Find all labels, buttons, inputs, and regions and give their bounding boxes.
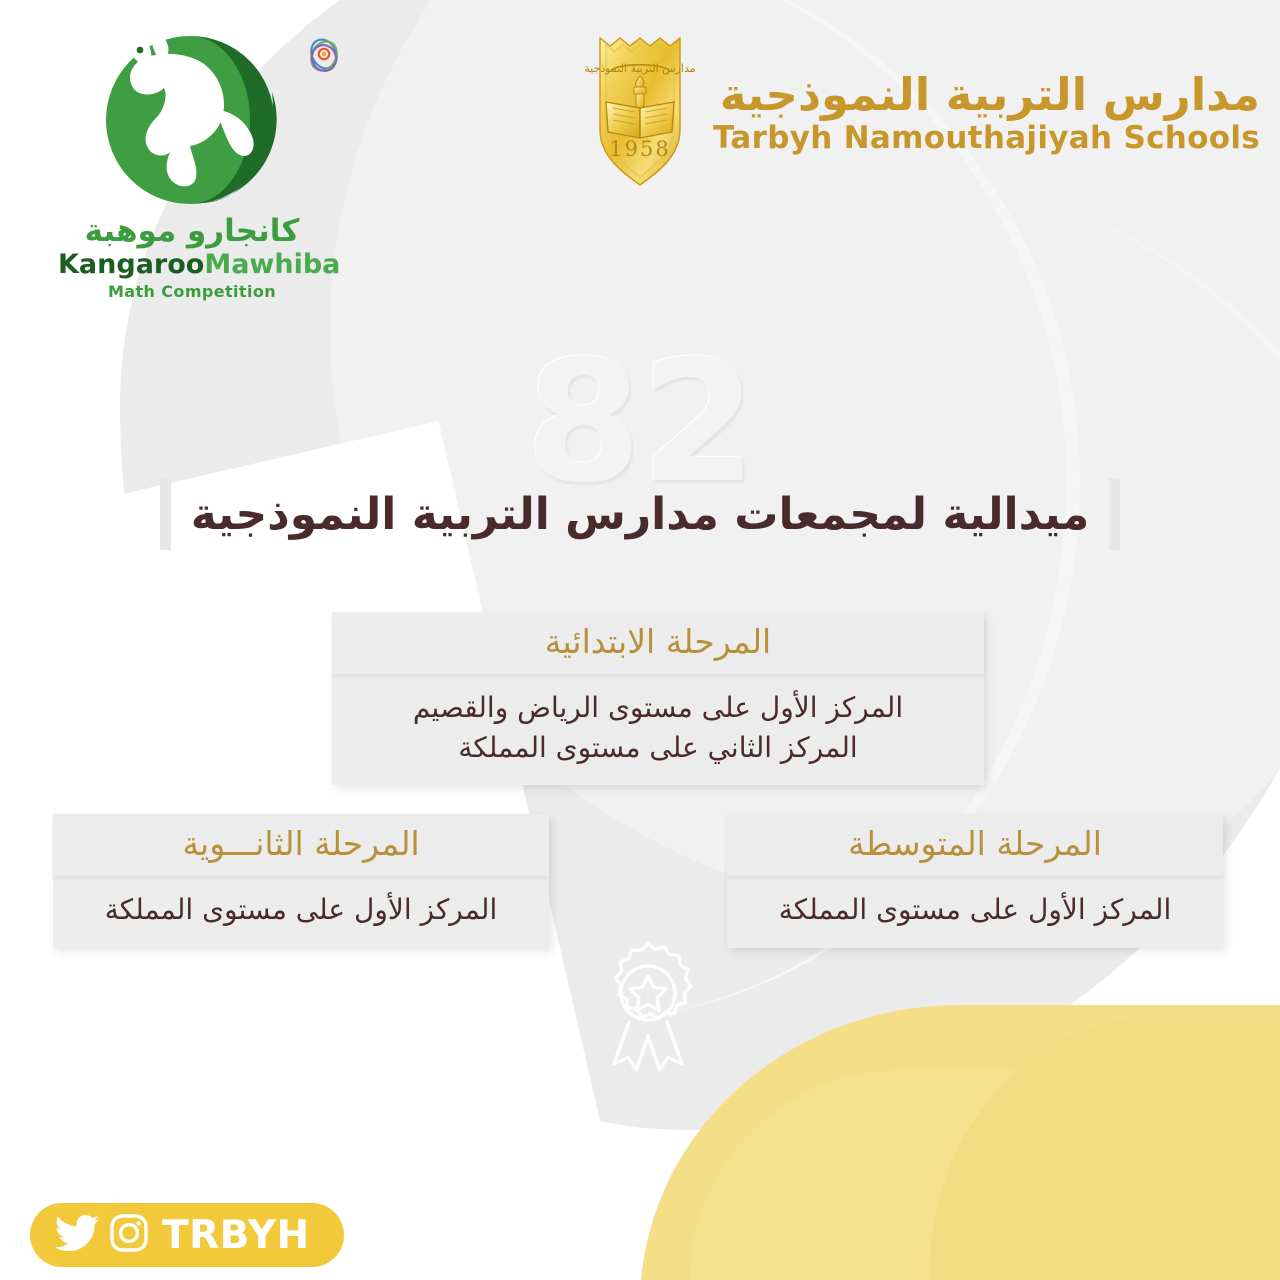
kangaroo-arabic-name: كانجارو موهبة [58, 214, 326, 248]
page-title: ميدالية لمجمعات مدارس التربية النموذجية [191, 489, 1089, 540]
svg-text:1958: 1958 [609, 137, 670, 161]
award-ribbon-icon [588, 938, 708, 1078]
svg-text:مدارس التربية النموذجية: مدارس التربية النموذجية [584, 62, 695, 75]
card-header-primary: المرحلة الابتدائية [332, 612, 984, 675]
achievement-card-middle[interactable]: المرحلة المتوسطة المركز الأول على مستوى … [727, 814, 1223, 948]
poster-header: كانجارو موهبة KangarooMawhiba Math Compe… [0, 0, 1280, 320]
kangaroo-circle-logo [94, 26, 290, 208]
school-shield-badge: مدارس التربية النموذجية 1958 [579, 34, 701, 189]
kangaroo-tagline: Math Competition [58, 282, 326, 301]
achievement-card-secondary[interactable]: المرحلة الثانـــوية المركز الأول على مست… [53, 814, 549, 948]
kangaroo-word: Kangaroo [58, 249, 204, 280]
stage-name-secondary: المرحلة الثانـــوية [63, 825, 539, 863]
school-brand-lockup: مدارس التربية النموذجية Tarbyh Namouthaj… [579, 34, 1260, 189]
title-divider-left [160, 478, 171, 550]
card-header-middle: المرحلة المتوسطة [727, 814, 1223, 877]
school-arabic-name: مدارس التربية النموذجية [713, 68, 1260, 121]
social-handle-text: TRBYH [162, 1213, 310, 1258]
stage-name-middle: المرحلة المتوسطة [737, 825, 1213, 863]
card-header-secondary: المرحلة الثانـــوية [53, 814, 549, 877]
stage-name-primary: المرحلة الابتدائية [342, 623, 974, 661]
mawhiba-word: Mawhiba [204, 249, 340, 280]
achievement-line: المركز الأول على مستوى المملكة [67, 890, 535, 930]
school-english-name: Tarbyh Namouthajiyah Schools [713, 121, 1260, 155]
poster-canvas: 82 [0, 0, 1280, 1280]
achievement-line: المركز الثاني على مستوى المملكة [346, 728, 970, 768]
background-yellow-shape-2 [690, 1070, 1280, 1280]
instagram-camera-icon[interactable] [109, 1213, 149, 1257]
twitter-bird-icon[interactable] [56, 1214, 100, 1256]
title-divider-right [1109, 478, 1120, 550]
background-yellow-shape-3 [930, 1015, 1280, 1280]
background-yellow-shape-1 [640, 1005, 1280, 1280]
kangaroo-english-name: KangarooMawhiba [58, 249, 326, 280]
social-handle-pill[interactable]: TRBYH [30, 1203, 344, 1267]
achievement-line: المركز الأول على مستوى المملكة [741, 890, 1209, 930]
card-body-middle: المركز الأول على مستوى المملكة [727, 877, 1223, 948]
achievement-card-primary[interactable]: المرحلة الابتدائية المركز الأول على مستو… [332, 612, 984, 785]
school-name-block: مدارس التربية النموذجية Tarbyh Namouthaj… [713, 68, 1260, 155]
achievement-line: المركز الأول على مستوى الرياض والقصيم [346, 688, 970, 728]
hero-title-row: ميدالية لمجمعات مدارس التربية النموذجية [0, 472, 1280, 556]
card-body-secondary: المركز الأول على مستوى المملكة [53, 877, 549, 948]
kangaroo-mawhiba-logo: كانجارو موهبة KangarooMawhiba Math Compe… [58, 26, 326, 301]
mawhiba-swirl-icon [304, 34, 344, 78]
card-body-primary: المركز الأول على مستوى الرياض والقصيم ال… [332, 675, 984, 786]
